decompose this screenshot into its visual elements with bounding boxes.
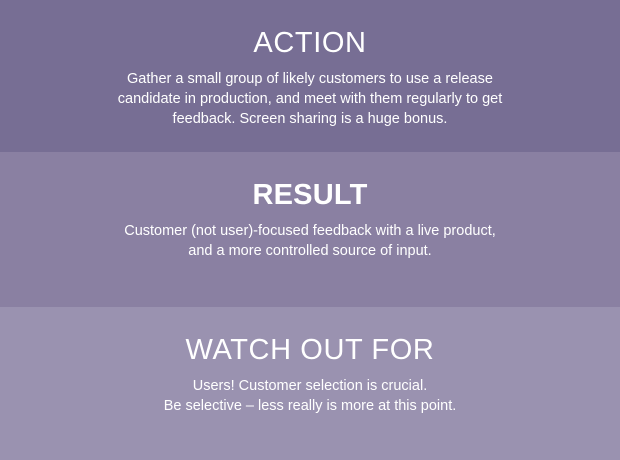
panel-result-heading: RESULT xyxy=(252,178,367,212)
panel-watch-out-for: WATCH OUT FOR Users! Customer selection … xyxy=(0,307,620,460)
panel-action: ACTION Gather a small group of likely cu… xyxy=(0,0,620,152)
panel-action-body: Gather a small group of likely customers… xyxy=(118,69,502,129)
panel-result: RESULT Customer (not user)-focused feedb… xyxy=(0,152,620,307)
panel-action-heading: ACTION xyxy=(253,26,366,60)
panel-result-body: Customer (not user)-focused feedback wit… xyxy=(124,221,496,261)
three-panel-slide: ACTION Gather a small group of likely cu… xyxy=(0,0,620,460)
panel-watch-out-for-heading: WATCH OUT FOR xyxy=(186,333,435,367)
panel-watch-out-for-body: Users! Customer selection is crucial. Be… xyxy=(164,376,457,416)
